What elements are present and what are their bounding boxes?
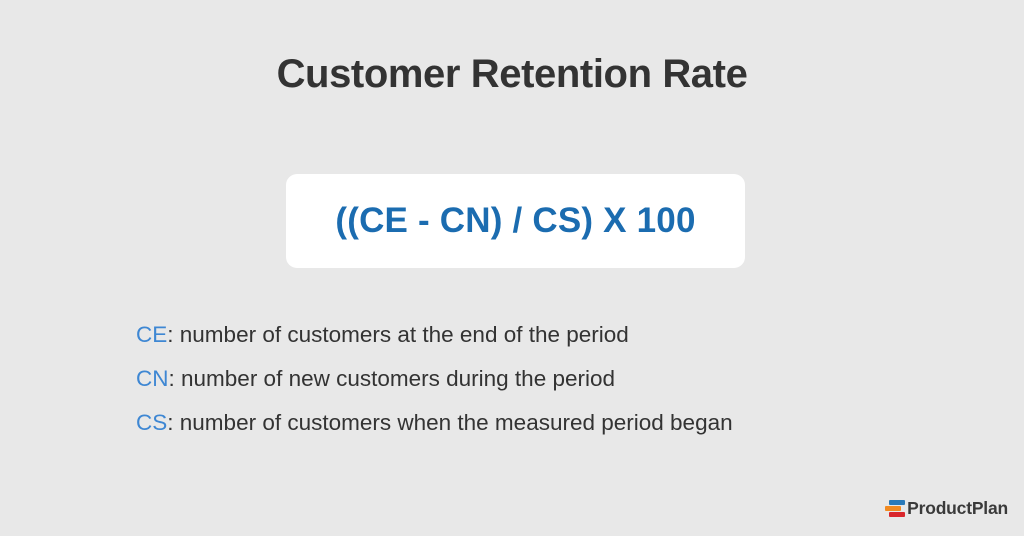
productplan-logo: ProductPlan <box>885 499 1008 518</box>
definition-list: CE: number of customers at the end of th… <box>136 313 936 445</box>
list-item: CE: number of customers at the end of th… <box>136 313 936 357</box>
list-item: CS: number of customers when the measure… <box>136 401 936 445</box>
logo-bar-middle <box>885 506 901 511</box>
logo-bar-top <box>889 500 905 505</box>
definition-description-cn: number of new customers during the perio… <box>175 366 615 391</box>
list-item: CN: number of new customers during the p… <box>136 357 936 401</box>
definition-description-cs: number of customers when the measured pe… <box>174 410 733 435</box>
logo-wordmark: ProductPlan <box>907 500 1008 518</box>
definition-term-ce: CE <box>136 322 167 347</box>
productplan-bars-icon <box>885 499 905 518</box>
page-title: Customer Retention Rate <box>0 52 1024 96</box>
definition-term-cs: CS <box>136 410 167 435</box>
formula-card: ((CE - CN) / CS) X 100 <box>286 174 745 268</box>
infographic-canvas: Customer Retention Rate ((CE - CN) / CS)… <box>0 0 1024 536</box>
definition-term-cn: CN <box>136 366 169 391</box>
formula-text: ((CE - CN) / CS) X 100 <box>335 201 695 241</box>
definition-description-ce: number of customers at the end of the pe… <box>174 322 629 347</box>
logo-bar-bottom <box>889 512 905 517</box>
